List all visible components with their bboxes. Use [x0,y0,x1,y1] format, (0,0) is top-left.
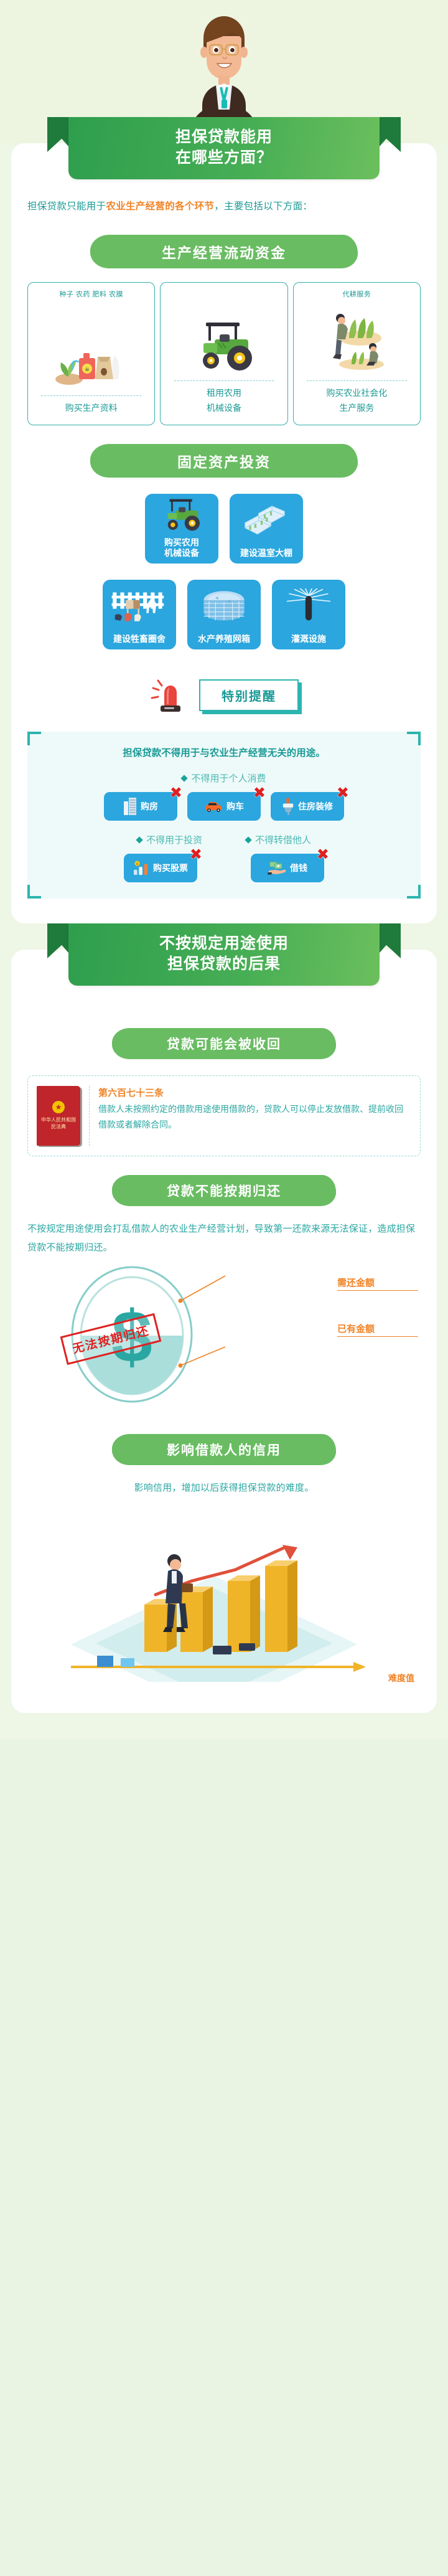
flow-label-line1: 购买农业社会化 [326,386,387,401]
heading-working-capital: 生产经营流动资金 [90,235,358,268]
ribbon-line-1: 不按规定用途使用 [75,933,373,954]
flow-label: 购买生产资料 [65,401,118,416]
bullet-no-investment: 不得用于投资 [137,833,202,846]
svg-text:☠: ☠ [85,366,90,372]
bar-chart-coin-icon: ¥ [133,861,149,875]
tile-irrigation[interactable]: 灌溉设施 [272,580,345,649]
divider [41,395,141,396]
banned-lend-money[interactable]: ✖ 借钱 [251,854,324,882]
card-usage: 担保贷款能用 在哪些方面？ 担保贷款只能用于农业生产经营的各个环节，主要包括以下… [11,143,437,923]
ban-label: 购买股票 [153,862,188,874]
book-title-line1: 中华人民共和国 [41,1117,76,1124]
cross-icon: ✖ [253,786,266,801]
tile-label: 建设温室大棚 [240,548,292,559]
infographic-page: 担保贷款能用 在哪些方面？ 担保贷款只能用于农业生产经营的各个环节，主要包括以下… [0,0,448,1739]
heading-text: 固定资产投资 [177,450,271,471]
divider [174,380,274,381]
flow-label: 购买农业社会化 生产服务 [326,386,387,416]
corner-bottom-left [27,885,41,899]
prohibition-panel: 担保贷款不得用于与农业生产经营无关的用途。 不得用于个人消费 ✖ 购房 [27,732,421,899]
bullet-no-relending: 不得转借他人 [246,833,311,846]
intro-highlight: 农业生产经营的各个环节 [106,201,214,212]
cannot-repay-text: 不按规定用途使用会打乱借款人的农业生产经营计划，导致第一还款来源无法保证，造成担… [27,1220,421,1257]
banned-home-renovation[interactable]: ✖ 住房装修 [271,792,344,821]
special-reminder-row: 特别提醒 [27,674,421,715]
ribbon-line-1: 担保贷款能用 [75,127,373,148]
banned-buy-house[interactable]: ✖ 购房 [104,792,177,821]
heading-text: 贷款不能按期归还 [167,1181,281,1200]
heading-text: 贷款可能会被收回 [167,1034,281,1053]
tractor-icon [187,299,261,375]
legend-amount-due-label: 需还金额 [337,1278,375,1288]
flow-item-production-materials: 种子 农药 肥料 农膜 ☠ [27,282,155,425]
flow-label-line2: 机械设备 [207,401,241,416]
diamond-bullet-icon [245,836,251,843]
legend-amount-due: 需还金额 [337,1276,418,1291]
banned-items-personal: ✖ 购房 ✖ 购车 [37,792,411,821]
heading-credit-impact: 影响借款人的信用 [112,1434,336,1465]
prohibition-title: 担保贷款不得用于与农业生产经营无关的用途。 [37,745,411,759]
divider [307,380,407,381]
ribbon-line-2: 在哪些方面？ [75,148,373,168]
cross-icon: ✖ [170,786,182,801]
greenhouse-icon [230,494,303,548]
banned-buy-stocks[interactable]: ✖ ¥ 购买股票 [124,854,197,882]
corner-bottom-right [407,885,421,899]
tile-label: 建设牲畜圈舍 [113,634,166,644]
ribbon-body: 担保贷款能用 在哪些方面？ [68,117,380,179]
book-wrap: ★ 中华人民共和国 民法典 [37,1086,90,1146]
ban-label: 购房 [141,800,158,813]
cross-icon: ✖ [190,847,202,862]
tile-fish-cage[interactable]: 水产养殖网箱 [187,580,261,649]
cash-in-hand-icon [268,861,286,875]
book-title-line2: 民法典 [41,1124,76,1131]
bullet-text: 不得用于个人消费 [191,771,266,785]
tile-label-line1: 购买农用 [164,537,199,548]
sprinkler-icon [272,580,345,634]
difficulty-bar-chart: 难度值 [27,1501,421,1688]
tile-label: 购买农用 机械设备 [164,537,199,559]
livestock-pen-icon [103,580,176,634]
working-capital-flow: 种子 农药 肥料 农膜 ☠ [27,282,421,425]
axis-label-difficulty: 难度值 [388,1672,414,1684]
heading-text: 影响借款人的信用 [167,1440,281,1459]
bullet-text: 不得转借他人 [255,833,311,846]
flow-tags: 种子 农药 肥料 农膜 [59,289,123,299]
tile-label: 水产养殖网箱 [198,634,250,644]
diamond-bullet-icon [181,775,188,781]
civil-code-book-icon: ★ 中华人民共和国 民法典 [37,1086,80,1146]
article-number: 第六百七十三条 [98,1086,411,1099]
legend-amount-available-label: 已有金额 [337,1324,375,1334]
building-icon [123,798,137,815]
bullet-personal-consumption: 不得用于个人消费 [182,771,266,785]
title-ribbon-consequences: 不按规定用途使用 担保贷款的后果 [68,923,380,986]
credit-impact-text: 影响信用，增加以后获得担保贷款的难度。 [27,1479,421,1498]
intro-text-a: 担保贷款只能用于 [27,201,106,212]
tractor-icon [145,494,218,537]
article-body: 借款人未按照约定的借款用途使用借款的，贷款人可以停止发放借款、提前收回借款或者解… [98,1102,411,1132]
heading-loan-recall: 贷款可能会被收回 [112,1028,336,1059]
farmer-service-icon [319,299,394,375]
ban-label: 购车 [226,800,244,813]
card-consequences: 不按规定用途使用 担保贷款的后果 贷款可能会被收回 ★ 中华人民共和国 民法典 … [11,950,437,1713]
flow-item-social-services: 代耕服务 [293,282,421,425]
special-reminder-box: 特别提醒 [199,679,299,711]
flow-label: 租用农用 机械设备 [207,386,241,416]
tile-label-line1: 建设牲畜圈舍 [113,634,166,644]
banned-buy-car[interactable]: ✖ 购车 [187,792,261,821]
tile-livestock-pen[interactable]: 建设牲畜圈舍 [103,580,176,649]
legend-amount-available: 已有金额 [337,1322,418,1337]
ban-label: 住房装修 [298,800,333,813]
heading-cannot-repay: 贷款不能按期归还 [112,1175,336,1206]
title-ribbon-usage: 担保贷款能用 在哪些方面？ [68,117,380,179]
flow-tags: 代耕服务 [342,289,371,299]
ban-label: 借钱 [290,862,307,874]
tile-label-line1: 水产养殖网箱 [198,634,250,644]
fixed-asset-row-1: 购买农用 机械设备 [27,494,421,564]
flow-label-line2: 生产服务 [326,401,387,416]
tile-buy-machinery[interactable]: 购买农用 机械设备 [145,494,218,564]
bullet-row-personal: 不得用于个人消费 [37,771,411,785]
corner-top-right [407,732,421,745]
national-emblem-icon: ★ [52,1101,65,1113]
diamond-bullet-icon [136,836,142,843]
cross-icon: ✖ [337,786,349,801]
flow-label-line1: 购买生产资料 [65,401,118,416]
cross-icon: ✖ [317,847,329,862]
heading-fixed-asset: 固定资产投资 [90,444,358,478]
difficulty-chart-illustration [27,1501,401,1682]
banned-items-invest-lend: ✖ ¥ 购买股票 ✖ [37,854,411,882]
fish-cage-icon [187,580,261,634]
fixed-asset-row-2: 建设牲畜圈舍 [27,580,421,649]
siren-icon [149,674,187,715]
book-title: 中华人民共和国 民法典 [41,1117,76,1131]
tile-label: 灌溉设施 [291,634,326,644]
bullet-row-invest-lend: 不得用于投资 不得转借他人 [37,833,411,846]
corner-top-left [27,732,41,745]
ribbon-line-2: 担保贷款的后果 [75,954,373,974]
repayment-pie-chart: $ 需还金额 已有金额 无法按期归还 [27,1260,421,1415]
civil-code-box: ★ 中华人民共和国 民法典 第六百七十三条 借款人未按照约定的借款用途使用借款的… [27,1075,421,1156]
footer-spacer [0,1713,448,1722]
intro-paragraph: 担保贷款只能用于农业生产经营的各个环节，主要包括以下方面： [27,197,421,216]
car-icon [204,801,223,812]
heading-text: 生产经营流动资金 [162,241,286,262]
law-text: 第六百七十三条 借款人未按照约定的借款用途使用借款的，贷款人可以停止发放借款、提… [98,1086,411,1146]
flow-label-line1: 租用农用 [207,386,241,401]
tile-build-greenhouse[interactable]: 建设温室大棚 [230,494,303,564]
ribbon-body: 不按规定用途使用 担保贷款的后果 [68,923,380,986]
legend-line [337,1290,418,1291]
tile-label-line2: 机械设备 [164,548,199,559]
tile-label-line1: 建设温室大棚 [240,548,292,559]
tile-label-line1: 灌溉设施 [291,634,326,644]
seeds-pesticide-fertilizer-icon: ☠ [54,299,129,390]
legend-line [337,1336,418,1337]
paint-roller-icon [282,798,294,815]
intro-text-b: ，主要包括以下方面： [214,201,312,212]
flow-item-rent-machinery: 租用农用 机械设备 [160,282,287,425]
bullet-text: 不得用于投资 [146,833,202,846]
